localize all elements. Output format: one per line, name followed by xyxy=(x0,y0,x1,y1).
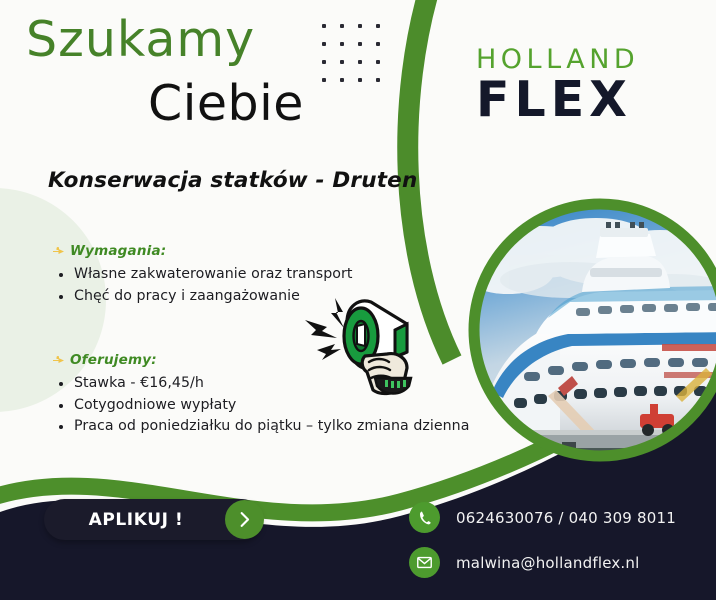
requirements-heading: Wymagania: xyxy=(52,243,353,259)
headline-primary: Szukamy xyxy=(26,14,255,65)
grid-dot xyxy=(322,78,326,82)
grid-dot xyxy=(340,60,344,64)
grid-dot xyxy=(358,42,362,46)
logo-text-flex: FLEX xyxy=(476,75,706,125)
email-address: malwina@hollandflex.nl xyxy=(456,554,639,572)
grid-dot xyxy=(376,78,380,82)
recruitment-poster: Szukamy Ciebie HOLLAND FLEX Konserwacja … xyxy=(0,0,716,600)
contact-email-row[interactable]: malwina@hollandflex.nl xyxy=(409,547,639,578)
grid-dot xyxy=(340,78,344,82)
phone-icon xyxy=(409,502,440,533)
apply-button-label: APLIKUJ ! xyxy=(44,499,228,540)
grid-dot xyxy=(376,42,380,46)
phone-number: 0624630076 / 040 309 8011 xyxy=(456,509,676,527)
grid-dot xyxy=(340,42,344,46)
grid-dot xyxy=(322,42,326,46)
grid-dot xyxy=(322,24,326,28)
list-item: Własne zakwaterowanie oraz transport xyxy=(52,264,353,286)
list-item: Praca od poniedziałku do piątku – tylko … xyxy=(52,416,469,438)
grid-dot xyxy=(376,24,380,28)
list-item: Cotygodniowe wypłaty xyxy=(52,395,469,417)
chevron-right-icon xyxy=(236,511,253,528)
offer-heading-label: Oferujemy: xyxy=(70,352,157,368)
company-logo: HOLLAND FLEX xyxy=(476,46,706,125)
requirements-heading-label: Wymagania: xyxy=(70,243,166,259)
headline-secondary: Ciebie xyxy=(148,78,304,129)
grid-dot xyxy=(376,60,380,64)
apply-arrow-button[interactable] xyxy=(225,500,264,539)
job-subtitle: Konserwacja statków - Druten xyxy=(48,168,417,193)
pointing-finger-icon xyxy=(52,354,65,366)
megaphone-icon xyxy=(303,286,425,396)
grid-dot xyxy=(358,60,362,64)
ship-photo xyxy=(462,204,716,464)
contact-phone-row[interactable]: 0624630076 / 040 309 8011 xyxy=(409,502,676,533)
grid-dot xyxy=(322,60,326,64)
grid-dot xyxy=(340,24,344,28)
dot-grid-decoration xyxy=(322,24,394,96)
grid-dot xyxy=(358,78,362,82)
envelope-icon xyxy=(409,547,440,578)
grid-dot xyxy=(358,24,362,28)
pointing-finger-icon xyxy=(52,245,65,257)
logo-text-holland: HOLLAND xyxy=(476,46,706,73)
